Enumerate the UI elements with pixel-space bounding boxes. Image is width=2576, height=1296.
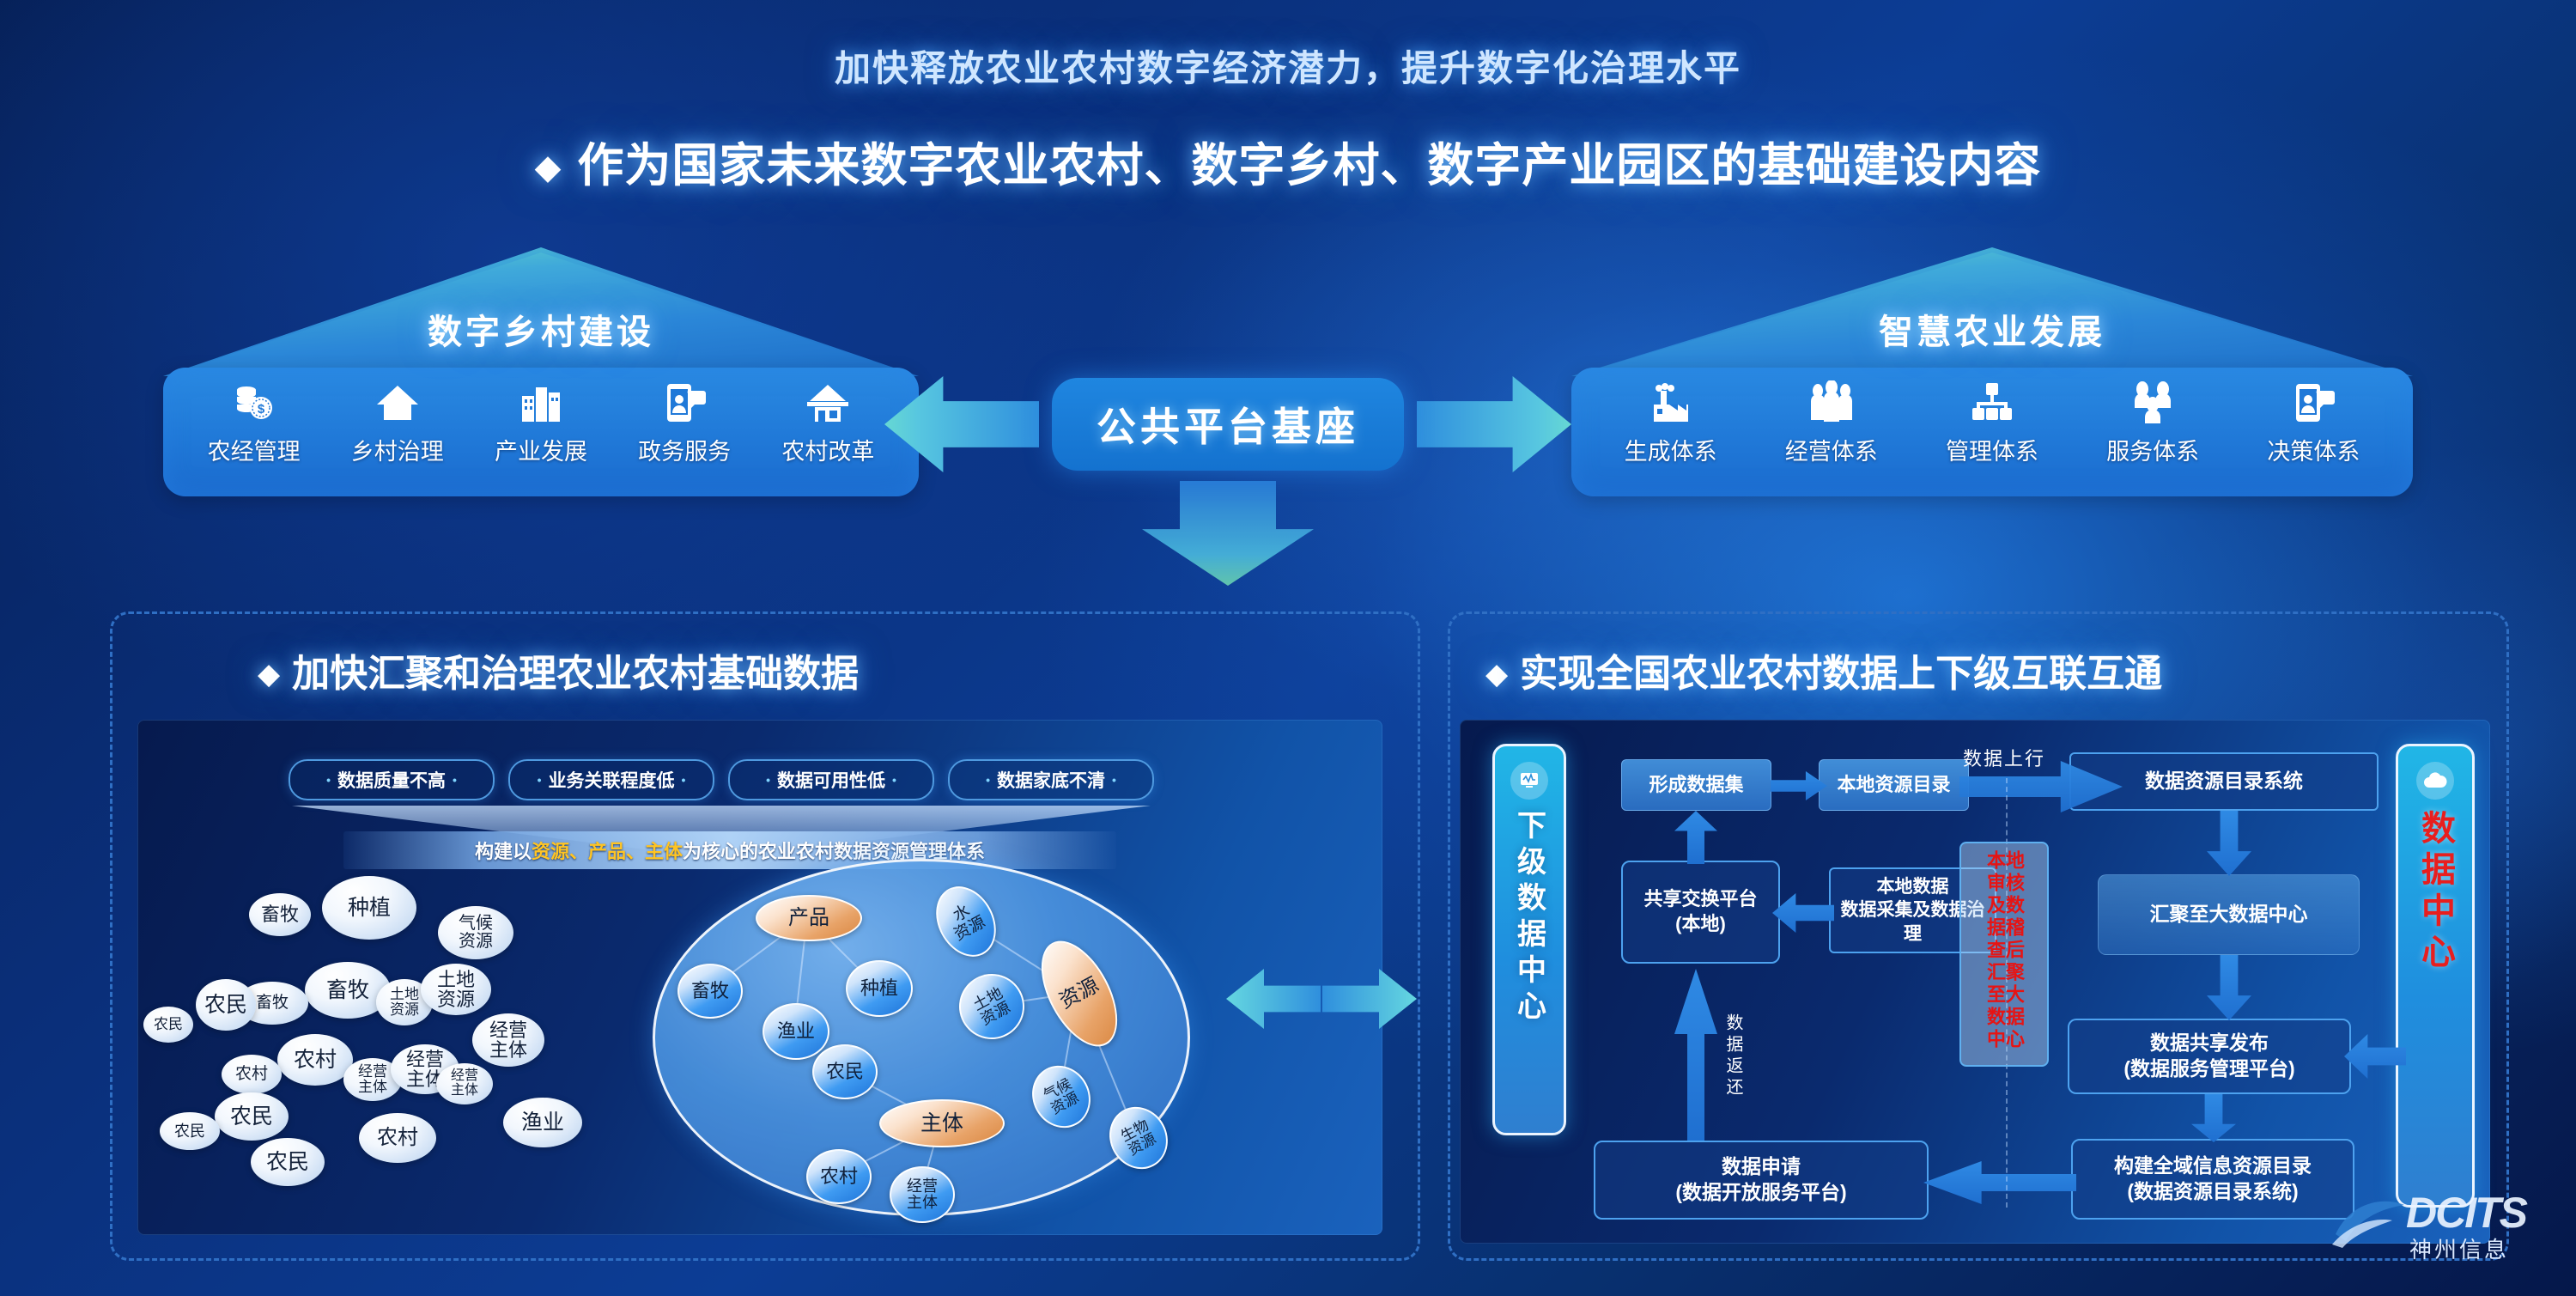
- problem-pill-1: • 业务关联程度低 •: [508, 759, 714, 800]
- red-note-col-1: 地核数稽后聚大据心: [2004, 850, 2023, 1051]
- chaos-bubble-label: 农民: [230, 1105, 273, 1128]
- company-logo: DCITS 神州信息: [2330, 1183, 2545, 1277]
- right-icon-row: 生成体系 经营体系: [1571, 378, 2413, 491]
- data-node: 农民: [812, 1044, 878, 1099]
- chaos-bubble: 土地资源: [421, 964, 491, 1015]
- pill-label: 数据可用性低: [777, 767, 885, 793]
- box-share-exchange-platform[interactable]: 共享交换平台 (本地): [1621, 861, 1780, 964]
- red-note-box: 本审及据查汇至数中 地核数稽后聚大据心: [1959, 842, 2049, 1067]
- data-node: 种植: [846, 960, 913, 1017]
- data-node: 经营主体: [890, 1166, 955, 1223]
- chaos-bubble-label: 农村: [235, 1066, 268, 1083]
- chaos-bubble-label: 种植: [348, 897, 391, 919]
- box-build-global-catalog[interactable]: 构建全域信息资源目录 (数据资源目录系统): [2071, 1139, 2354, 1220]
- coins-money-icon: $: [232, 378, 276, 428]
- chaos-bubble-label: 经营主体: [451, 1069, 478, 1098]
- data-node-label: 气候资源: [1042, 1076, 1082, 1117]
- pill-dot-icon: •: [892, 773, 896, 787]
- chaos-bubble: 经营主体: [472, 1013, 544, 1067]
- tile-decision-system[interactable]: 决策体系: [2260, 378, 2367, 466]
- pill-dot-icon: •: [1112, 773, 1116, 787]
- diamond-bullet-icon: ◆: [535, 149, 562, 186]
- tile-label: 服务体系: [2106, 433, 2199, 466]
- chaos-bubble-label: 土地资源: [390, 987, 419, 1018]
- digital-village-house: 数字乡村建设 $ 农经管理: [163, 247, 919, 505]
- diamond-bullet-icon: ◆: [258, 658, 280, 691]
- chaos-bubble-label: 农民: [174, 1123, 205, 1140]
- tile-industry-development[interactable]: 产业发展: [487, 378, 594, 466]
- arrow-down-icon: [1142, 481, 1314, 586]
- chaos-bubble-label: 畜牧: [326, 979, 369, 1001]
- chaos-bubble: 农村: [359, 1113, 436, 1163]
- chaos-bubble: 种植: [322, 876, 416, 940]
- chaos-bubble-label: 渔业: [521, 1111, 564, 1134]
- data-center-label: 数据中心: [2410, 810, 2460, 975]
- tile-service-system[interactable]: 服务体系: [2099, 378, 2207, 466]
- chaos-bubble-label: 农民: [154, 1017, 183, 1032]
- tile-label: 农村改革: [781, 433, 874, 466]
- tile-label: 决策体系: [2267, 433, 2360, 466]
- tile-label: 管理体系: [1946, 433, 2038, 466]
- pill-label: 数据质量不高: [337, 767, 446, 793]
- people-group-icon: [1807, 378, 1856, 428]
- diamond-bullet-icon: ◆: [1485, 658, 1508, 691]
- box-data-apply[interactable]: 数据申请 (数据开放服务平台): [1594, 1141, 1929, 1220]
- chaos-bubble-label: 经营主体: [489, 1020, 527, 1060]
- arrow-right-icon: [1417, 376, 1571, 472]
- banner-prefix: 构建以: [475, 837, 532, 864]
- data-node-label: 产品: [788, 907, 829, 928]
- pill-dot-icon: •: [766, 773, 770, 787]
- pill-label: 业务关联程度低: [549, 767, 675, 793]
- chaos-bubble: 农村: [277, 1034, 353, 1086]
- buildings-icon: [519, 378, 563, 428]
- problem-pill-3: • 数据家底不清 •: [948, 759, 1154, 800]
- pill-dot-icon: •: [453, 773, 457, 787]
- house-reform-icon: [805, 378, 850, 428]
- data-node-label: 经营主体: [907, 1178, 938, 1211]
- chaos-bubble-label: 农民: [204, 994, 247, 1016]
- box-label: 数据申请 (数据开放服务平台): [1675, 1154, 1846, 1206]
- right-roof-label: 智慧农业发展: [1571, 304, 2413, 354]
- box-label: 汇聚至大数据中心: [2150, 902, 2308, 928]
- home-icon: [375, 378, 420, 428]
- data-node: 畜牧: [677, 964, 743, 1019]
- tile-label: 生成体系: [1625, 433, 1717, 466]
- data-node-label: 农村: [820, 1166, 858, 1186]
- box-label: 数据资源目录系统: [2145, 769, 2303, 794]
- svg-text:$: $: [257, 402, 264, 417]
- slide-canvas: 加快释放农业农村数字经济潜力，提升数字化治理水平 ◆作为国家未来数字农业农村、数…: [0, 0, 2576, 1296]
- box-label: 数据共享发布 (数据服务管理平台): [2123, 1031, 2294, 1082]
- box-label: 形成数据集: [1649, 773, 1743, 798]
- box-form-dataset[interactable]: 形成数据集: [1621, 759, 1771, 811]
- data-node-label: 土地资源: [970, 985, 1013, 1028]
- swoosh-icon: [2330, 1195, 2409, 1255]
- logo-wordmark: DCITS: [2406, 1188, 2526, 1238]
- right-panel-title: ◆实现全国农业农村数据上下级互联互通: [1485, 642, 2162, 697]
- pill-dot-icon: •: [682, 773, 686, 787]
- banner-highlight: 资源、产品、主体: [532, 837, 683, 864]
- chaos-bubble-label: 经营主体: [358, 1064, 387, 1095]
- data-node-label: 种植: [860, 978, 898, 998]
- data-node: 农村: [806, 1149, 872, 1204]
- box-data-resource-catalog-system[interactable]: 数据资源目录系统: [2069, 752, 2379, 811]
- factory-icon: [1649, 378, 1693, 428]
- tile-label: 乡村治理: [351, 433, 444, 466]
- chaos-bubble: 渔业: [503, 1098, 582, 1147]
- core-banner: 构建以资源、产品、主体为核心的农业农村数据资源管理体系: [343, 831, 1116, 869]
- tile-government-service[interactable]: 政务服务: [631, 378, 738, 466]
- left-roof-label: 数字乡村建设: [163, 304, 919, 354]
- public-platform-base-label: 公共平台基座: [1097, 396, 1359, 453]
- pill-dot-icon: •: [326, 773, 331, 787]
- data-node-label: 水资源: [944, 898, 988, 944]
- box-label: 构建全域信息资源目录 (数据资源目录系统): [2114, 1153, 2312, 1205]
- chaos-bubble-label: 畜牧: [261, 904, 299, 924]
- pill-label: 数据家底不清: [997, 767, 1105, 793]
- chaos-bubble-label: 畜牧: [256, 995, 289, 1012]
- tile-village-governance[interactable]: 乡村治理: [343, 378, 451, 466]
- box-data-share-publish[interactable]: 数据共享发布 (数据服务管理平台): [2068, 1019, 2351, 1094]
- chaos-bubble: 农民: [143, 1007, 193, 1043]
- box-local-resource-catalog[interactable]: 本地资源目录: [1819, 759, 1969, 811]
- chaos-bubble: 农村: [222, 1055, 282, 1094]
- data-node-label: 农民: [826, 1062, 864, 1081]
- slide-title-text: 作为国家未来数字农业农村、数字乡村、数字产业园区的基础建设内容: [577, 140, 2041, 192]
- chaos-bubble-label: 农民: [266, 1151, 309, 1173]
- box-aggregate-to-big-data-center[interactable]: 汇聚至大数据中心: [2098, 874, 2360, 955]
- chaos-bubble: 农民: [215, 1092, 289, 1141]
- data-node: 渔业: [762, 1003, 829, 1060]
- chaos-bubble: 农民: [251, 1138, 325, 1186]
- pill-dot-icon: •: [986, 773, 990, 787]
- org-chart-icon: [1970, 378, 2014, 428]
- chaos-bubble-label: 农村: [294, 1049, 337, 1071]
- data-node-label: 渔业: [777, 1021, 815, 1041]
- data-node: 主体: [879, 1099, 1005, 1147]
- label-data-return: 数据返还: [1721, 1013, 1746, 1099]
- problem-pill-2: • 数据可用性低 •: [728, 759, 934, 800]
- slide-title: ◆作为国家未来数字农业农村、数字乡村、数字产业园区的基础建设内容: [0, 127, 2576, 195]
- cloud-icon: [2416, 762, 2454, 800]
- tile-label: 产业发展: [495, 433, 587, 466]
- chaos-bubble: 农民: [160, 1112, 220, 1150]
- left-icon-row: $ 农经管理 乡村治理: [163, 378, 919, 491]
- sub-data-center-bar[interactable]: 下级数据中心: [1492, 744, 1566, 1135]
- data-node-label: 资源: [1056, 975, 1103, 1013]
- smart-agriculture-house: 智慧农业发展 生成体系: [1571, 247, 2413, 505]
- chaos-bubble: 经营主体: [436, 1063, 493, 1104]
- problem-pill-0: • 数据质量不高 •: [289, 759, 495, 800]
- mobile-service-icon: [662, 378, 707, 428]
- logo-subtext: 神州信息: [2409, 1232, 2509, 1264]
- service-people-icon: [2129, 378, 2176, 428]
- pill-dot-icon: •: [538, 773, 542, 787]
- right-panel-title-text: 实现全国农业农村数据上下级互联互通: [1520, 653, 2162, 695]
- slide-subtitle: 加快释放农业农村数字经济潜力，提升数字化治理水平: [0, 40, 2576, 92]
- monitor-pulse-icon: [1510, 762, 1548, 800]
- mobile-decision-icon: [2291, 378, 2336, 428]
- box-label: 本地资源目录: [1837, 773, 1950, 798]
- chaos-bubble: 农民: [196, 979, 256, 1031]
- tile-label: 政务服务: [638, 433, 731, 466]
- red-note-col-2: 本审及据查汇至数中: [1985, 850, 2004, 1051]
- sub-data-center-label: 下级数据中心: [1509, 810, 1551, 1026]
- tile-agri-economy[interactable]: $ 农经管理: [200, 378, 307, 466]
- left-panel-title-text: 加快汇聚和治理农业农村基础数据: [292, 653, 859, 695]
- tile-label: 农经管理: [208, 433, 301, 466]
- public-platform-base-badge[interactable]: 公共平台基座: [1052, 378, 1404, 471]
- tile-label: 经营体系: [1785, 433, 1878, 466]
- data-node-label: 畜牧: [691, 981, 729, 1001]
- data-center-bar[interactable]: 数据中心: [2396, 744, 2475, 1208]
- left-panel-title: ◆加快汇聚和治理农业农村基础数据: [258, 642, 859, 697]
- chaos-bubble: 气候资源: [438, 906, 513, 959]
- chaos-bubble: 畜牧: [249, 893, 311, 936]
- chaos-bubble-label: 土地资源: [437, 970, 475, 1009]
- data-node-label: 主体: [920, 1112, 963, 1135]
- box-label: 共享交换平台 (本地): [1643, 887, 1757, 936]
- chaos-bubble-label: 农村: [377, 1127, 418, 1148]
- label-data-upstream: 数据上行: [1963, 744, 2045, 771]
- tile-operation-system[interactable]: 经营体系: [1777, 378, 1885, 466]
- chaos-bubble-label: 气候资源: [459, 915, 493, 951]
- data-node: 产品: [756, 895, 862, 941]
- data-node-label: 生物资源: [1119, 1117, 1159, 1158]
- tile-production-system[interactable]: 生成体系: [1617, 378, 1724, 466]
- tile-rural-reform[interactable]: 农村改革: [775, 378, 882, 466]
- tile-management-system[interactable]: 管理体系: [1938, 378, 2045, 466]
